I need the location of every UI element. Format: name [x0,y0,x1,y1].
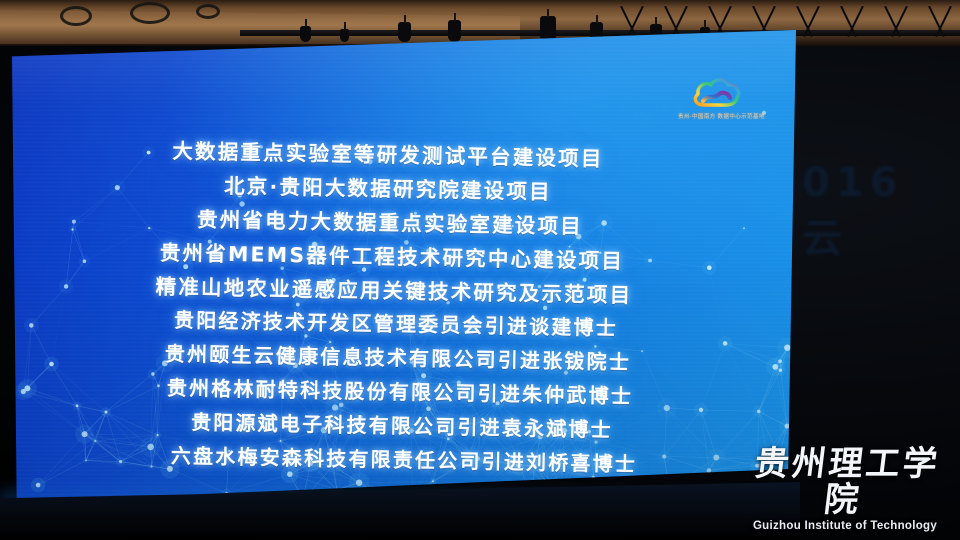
background-signage: 016 云 [802,160,960,264]
watermark-english: Guizhou Institute of Technology [742,520,948,532]
stage-light-icon [398,22,411,42]
project-list-item: 六盘水梅安森科技有限责任公司引进刘桥喜博士 [48,437,760,479]
stage-light-icon [448,20,461,42]
led-screen: 贵州·中国南方 数据中心示范基地 大数据重点实验室等研发测试平台建设项目北京·贵… [12,30,796,502]
cloud-logo-icon [692,74,742,110]
watermark-chinese: 贵州理工学院 [738,447,953,518]
stage-light-icon [340,29,349,42]
cloud-logo: 贵州·中国南方 数据中心示范基地 [678,74,754,132]
ceiling-light-ring-icon [60,6,92,26]
stage-light-icon [540,16,556,42]
watermark: 贵州理工学院 Guizhou Institute of Technology [742,447,948,532]
cloud-logo-caption: 贵州·中国南方 数据中心示范基地 [678,112,754,120]
ceiling-light-ring-icon [196,4,220,19]
stage-light-icon [300,26,311,42]
photo-scene: 016 云 [0,0,960,540]
ceiling-light-ring-icon [130,2,170,24]
